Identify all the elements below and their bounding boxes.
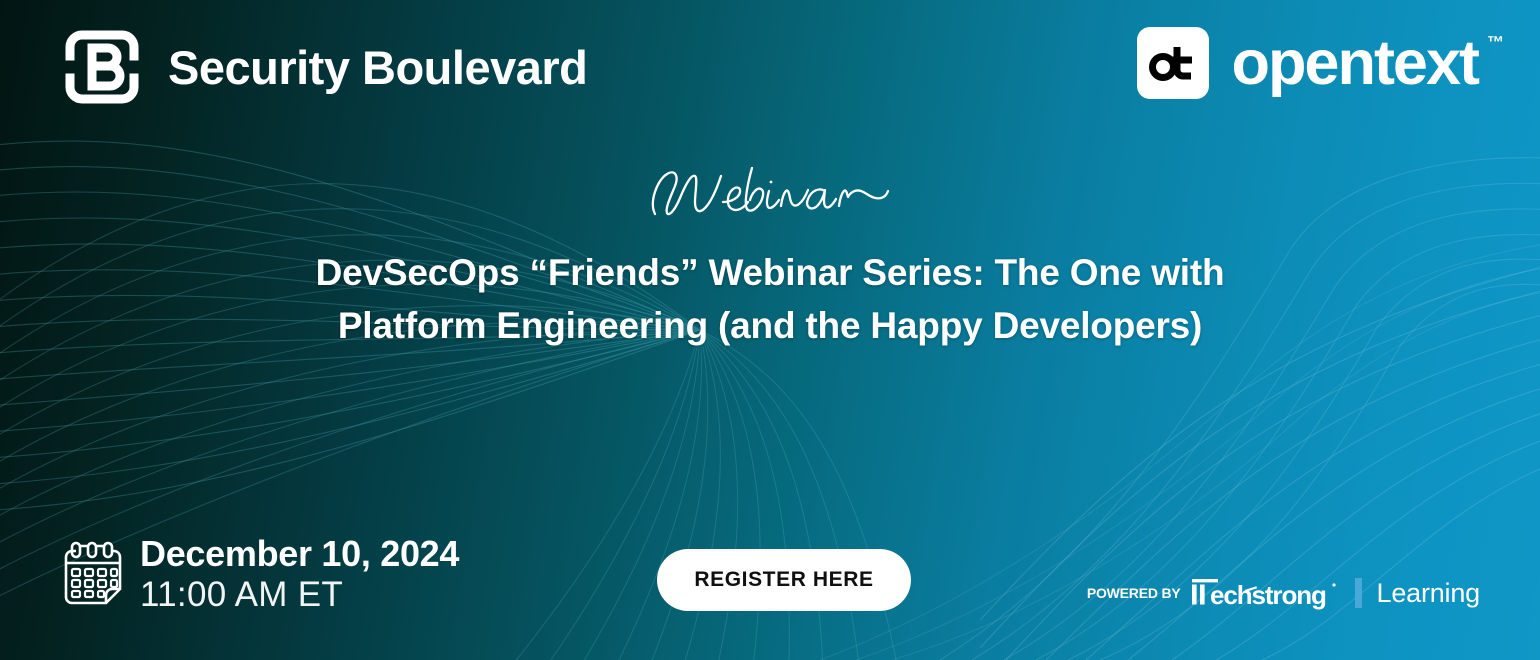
page-title-line-2: Platform Engineering (and the Happy Deve… — [290, 300, 1250, 353]
powered-by-label: POWERED BY — [1087, 585, 1181, 601]
page-title-line-1: DevSecOps “Friends” Webinar Series: The … — [290, 247, 1250, 300]
page-title: DevSecOps “Friends” Webinar Series: The … — [290, 247, 1250, 352]
opentext-trademark-symbol: ™ — [1487, 34, 1504, 51]
security-boulevard-sb-monogram-icon — [62, 26, 142, 108]
opentext-wordmark-text: opentext — [1231, 28, 1478, 98]
svg-text:echstrong: echstrong — [1210, 580, 1326, 610]
banner-header: Security Boulevard opentext ™ — [0, 0, 1540, 138]
powered-by-techstrong-learning: POWERED BY echstrong Learning — [1087, 576, 1480, 610]
webinar-date: December 10, 2024 — [140, 536, 459, 572]
webinar-promo-banner: Security Boulevard opentext ™ — [0, 0, 1540, 660]
schedule-block: December 10, 2024 11:00 AM ET — [62, 536, 459, 612]
vertical-divider-icon — [1355, 578, 1362, 608]
opentext-wordmark: opentext ™ — [1231, 32, 1478, 95]
opentext-ot-badge-icon — [1137, 27, 1209, 99]
schedule-text: December 10, 2024 11:00 AM ET — [140, 536, 459, 612]
techstrong-wordmark-icon: echstrong — [1190, 576, 1338, 610]
webinar-script-text-icon — [647, 158, 893, 234]
webinar-time: 11:00 AM ET — [140, 577, 459, 612]
webinar-script-eyebrow — [0, 158, 1540, 234]
security-boulevard-logo: Security Boulevard — [62, 26, 587, 108]
calendar-icon — [62, 539, 124, 609]
register-here-button[interactable]: REGISTER HERE — [657, 549, 911, 611]
opentext-logo: opentext ™ — [1137, 27, 1478, 99]
security-boulevard-wordmark: Security Boulevard — [168, 44, 587, 91]
learning-label: Learning — [1377, 578, 1481, 609]
